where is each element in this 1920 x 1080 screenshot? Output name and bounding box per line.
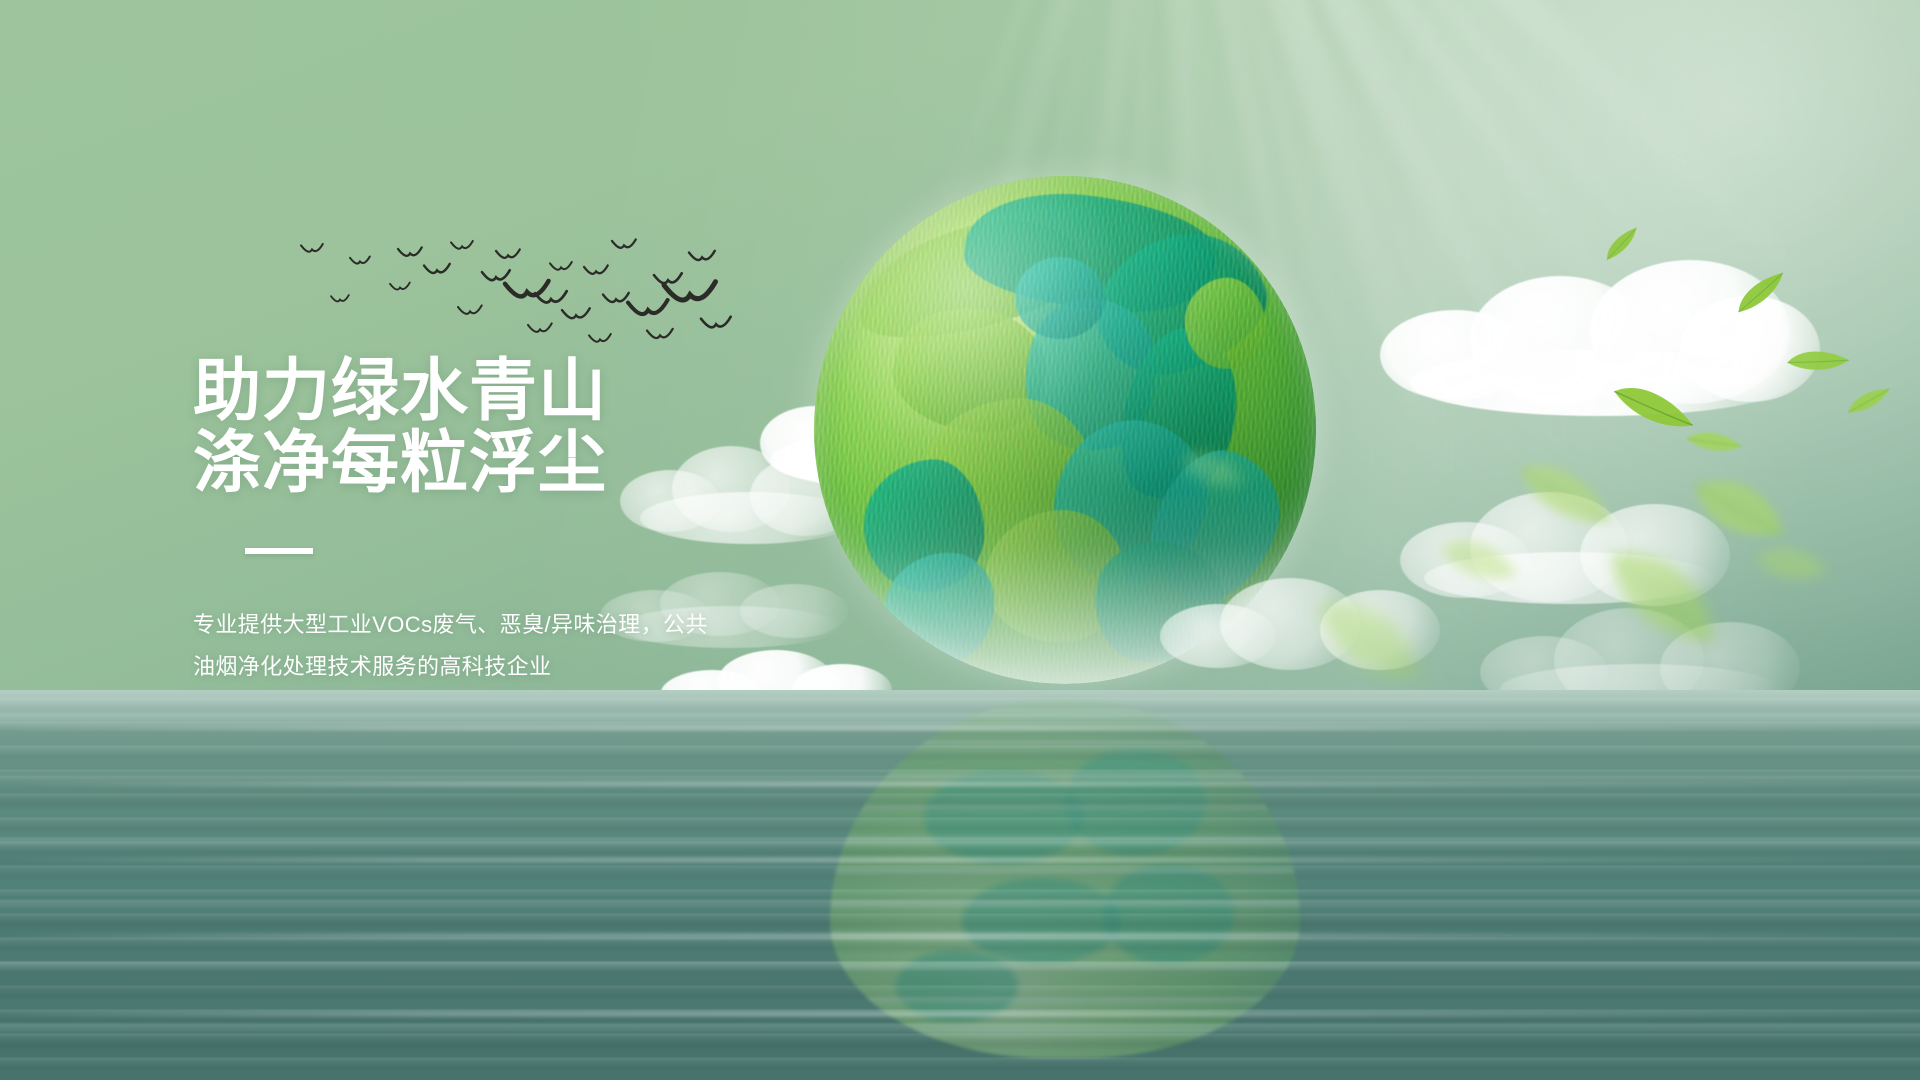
- cloud-puff: [1380, 310, 1530, 400]
- bird-icon: [654, 273, 682, 283]
- headline-divider: [245, 548, 313, 554]
- bird-icon: [603, 293, 629, 302]
- bird-icon: [390, 283, 410, 290]
- leaf-icon: [1609, 369, 1698, 449]
- bird-icon: [612, 239, 636, 247]
- water-horizon-glow: [0, 690, 1920, 760]
- bird-icon: [647, 329, 673, 338]
- cloud-shape: [1380, 250, 1800, 420]
- hero-banner: 助力绿水青山 涤净每粒浮尘 专业提供大型工业VOCs废气、恶臭/异味治理，公共油…: [0, 0, 1920, 1080]
- water-surface: [0, 690, 1920, 1080]
- cloud-puff: [1470, 492, 1628, 602]
- leaf-icon: [1599, 225, 1644, 263]
- globe-fog: [814, 491, 1316, 684]
- bird-icon: [689, 251, 715, 260]
- bird-icon: [550, 262, 572, 270]
- hero-subtitle: 专业提供大型工业VOCs废气、恶臭/异味治理，公共油烟净化处理技术服务的高科技企…: [193, 604, 728, 688]
- bird-icon: [331, 295, 349, 301]
- leaf-icon: [1843, 386, 1894, 417]
- bird-icon: [482, 270, 510, 280]
- earth-globe: [814, 176, 1316, 684]
- bird-icon: [535, 291, 567, 302]
- cloud-shape: [1400, 470, 1730, 610]
- bird-icon: [424, 264, 450, 273]
- cloud-puff: [1680, 296, 1820, 402]
- bird-icon: [628, 300, 668, 314]
- headline-line-1: 助力绿水青山: [193, 355, 833, 427]
- bird-icon: [458, 305, 482, 313]
- cloud-puff: [1470, 276, 1650, 404]
- bird-icon: [505, 281, 549, 297]
- bird-icon: [528, 323, 552, 331]
- bird-icon: [398, 247, 422, 255]
- leaf-icon: [1433, 519, 1523, 604]
- leaf-icon: [1785, 344, 1851, 380]
- bird-icon: [350, 257, 370, 264]
- leaf-icon: [1684, 454, 1792, 568]
- bird-icon: [451, 241, 473, 249]
- cloud-puff: [1424, 552, 1714, 604]
- cloud-puff: [1590, 260, 1790, 404]
- cloud-puff: [1400, 522, 1530, 598]
- cloud-puff: [1320, 590, 1440, 670]
- bird-icon: [496, 249, 520, 257]
- cloud-puff: [1410, 350, 1790, 416]
- bird-icon: [562, 308, 590, 318]
- leaf-icon: [1750, 531, 1832, 602]
- cloud-puff: [1580, 504, 1730, 606]
- bird-icon: [701, 317, 731, 328]
- bird-icon: [589, 334, 611, 342]
- bird-icon: [301, 244, 323, 252]
- hero-text-block: 助力绿水青山 涤净每粒浮尘 专业提供大型工业VOCs废气、恶臭/异味治理，公共油…: [193, 355, 833, 688]
- headline-line-2: 涤净每粒浮尘: [193, 427, 833, 499]
- bird-icon: [664, 282, 715, 300]
- leaf-icon: [1596, 523, 1726, 674]
- leaf-icon: [1729, 269, 1792, 317]
- leaf-icon: [1684, 422, 1744, 463]
- bird-icon: [584, 265, 608, 273]
- leaf-icon: [1510, 440, 1618, 552]
